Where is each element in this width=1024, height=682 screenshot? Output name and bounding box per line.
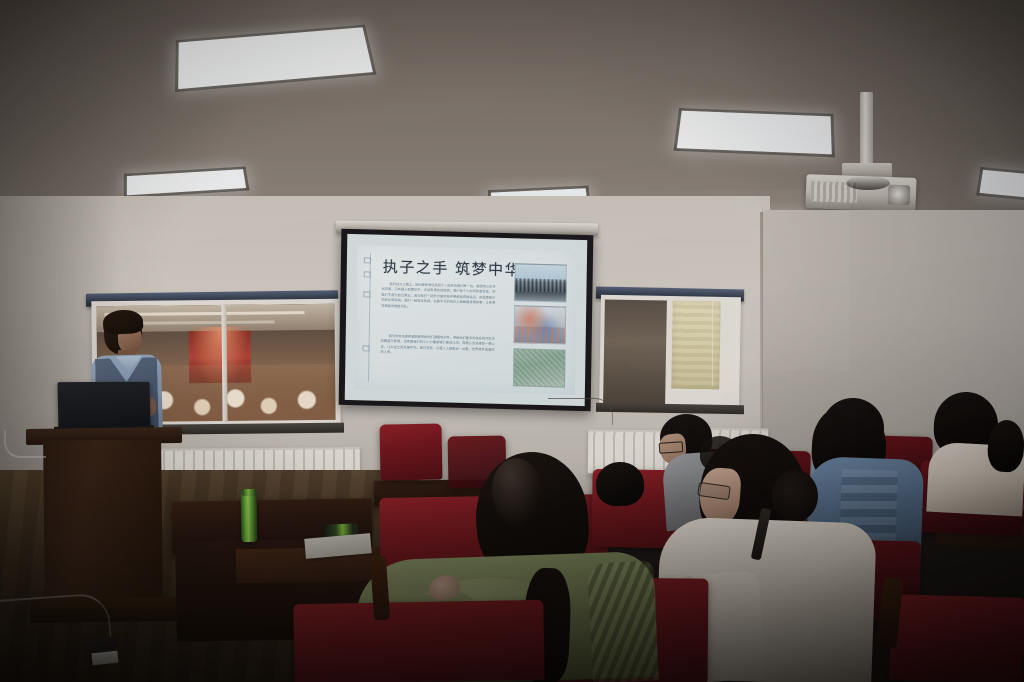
window-glass-right (603, 299, 667, 404)
laptop-screen[interactable] (57, 382, 150, 430)
water-bottle[interactable] (241, 492, 258, 542)
slide-bullet-mark-3 (363, 291, 370, 297)
blind-cord-secondary[interactable] (736, 300, 737, 396)
slide-photo-event (514, 305, 567, 344)
window-blind-right (671, 301, 721, 390)
lecture-room-photo: 执子之手 筑梦中华 我们在义工路上，因为爱和责任走到了一起并且我们每一位，都愿用… (0, 0, 1024, 682)
slide-paragraph-2: 我们的存在是希望能够带给他们温暖和关怀，带给他们更多的快乐和对生活的期望与希望，… (380, 334, 495, 379)
slide-photo-field (513, 348, 566, 387)
woman-cream-hair-bun (772, 470, 818, 522)
projection-screen: 执子之手 筑梦中华 我们在义工路上，因为爱和责任走到了一起并且我们每一位，都愿用… (345, 234, 588, 406)
podium (43, 439, 163, 612)
seat-back-row-left[interactable] (380, 423, 443, 480)
slide-bullet-mark-2 (364, 271, 371, 277)
projector-mount-pole (860, 92, 873, 170)
slide-photo-group (514, 263, 567, 302)
presenter-hair (102, 309, 143, 335)
presentation-slide: 执子之手 筑梦中华 我们在义工路上，因为爱和责任走到了一起并且我们每一位，都愿用… (355, 245, 577, 395)
slide-bullet-mark-4 (362, 345, 369, 351)
front-woman-jacket-gathers (587, 560, 659, 682)
seat-foreground-far-right[interactable] (889, 594, 1024, 682)
slide-paragraph-1: 我们在义工路上，因为爱和责任走到了一起并且我们每一位，都愿用心去付出去爱。只有融… (381, 282, 496, 330)
slide-bullet-mark-1 (364, 257, 371, 263)
screen-cable (548, 398, 613, 425)
blind-cord[interactable] (712, 300, 713, 386)
projector-lens (888, 185, 911, 206)
slide-title: 执子之手 筑梦中华 (383, 256, 522, 281)
seat-front-row[interactable] (293, 600, 544, 682)
wall-cable (4, 430, 46, 458)
man-grey-glasses (659, 441, 684, 454)
ceiling-light-panel-4 (673, 108, 835, 157)
projector-cables (846, 176, 890, 190)
water-bottle-cap[interactable] (242, 489, 256, 496)
